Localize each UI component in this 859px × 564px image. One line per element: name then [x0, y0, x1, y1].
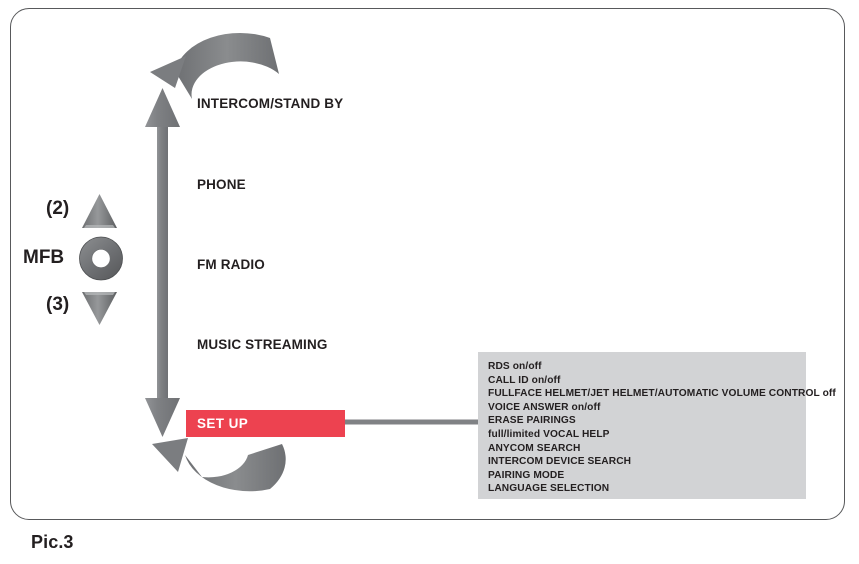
menu-item-music-streaming: MUSIC STREAMING [197, 337, 328, 352]
down-button-number-label: (3) [46, 294, 69, 316]
list-item: VOICE ANSWER on/off [488, 401, 806, 415]
menu-item-intercom-standby: INTERCOM/STAND BY [197, 96, 343, 111]
figure-root: (2) MFB (3) INTERCOM/STAND BY PHONE FM R… [0, 0, 859, 564]
setup-options-panel: RDS on/off CALL ID on/off FULLFACE HELME… [478, 352, 806, 499]
setup-box[interactable]: SET UP [186, 410, 345, 437]
list-item: ANYCOM SEARCH [488, 442, 806, 456]
menu-item-phone: PHONE [197, 177, 246, 192]
list-item: full/limited VOCAL HELP [488, 428, 806, 442]
setup-label: SET UP [197, 416, 248, 431]
list-item: ERASE PAIRINGS [488, 414, 806, 428]
list-item: PAIRING MODE [488, 469, 806, 483]
figure-caption: Pic.3 [31, 532, 74, 553]
mfb-label: MFB [23, 247, 64, 269]
menu-item-fm-radio: FM RADIO [197, 257, 265, 272]
list-item: CALL ID on/off [488, 374, 806, 388]
up-button-number-label: (2) [46, 198, 69, 220]
setup-options-list: RDS on/off CALL ID on/off FULLFACE HELME… [478, 352, 806, 496]
list-item: INTERCOM DEVICE SEARCH [488, 455, 806, 469]
list-item: FULLFACE HELMET/JET HELMET/AUTOMATIC VOL… [488, 387, 806, 401]
list-item: RDS on/off [488, 360, 806, 374]
list-item: LANGUAGE SELECTION [488, 482, 806, 496]
